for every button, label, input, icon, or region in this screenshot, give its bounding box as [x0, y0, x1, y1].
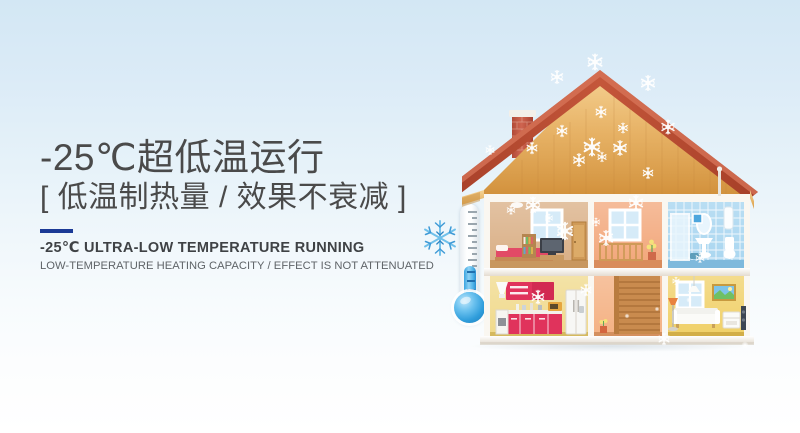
headline-chinese: -25℃超低温运行 [40, 138, 440, 178]
room-living-room [668, 276, 746, 338]
subheadline-chinese: [ 低温制热量 / 效果不衰减 ] [40, 180, 440, 215]
staircase [614, 276, 660, 334]
room-kitchen [490, 276, 588, 338]
room-bedroom [490, 202, 588, 268]
headline-english: -25℃ ULTRA-LOW TEMPERATURE RUNNING [40, 239, 440, 257]
subheadline-english: LOW-TEMPERATURE HEATING CAPACITY / EFFEC… [40, 259, 440, 274]
vent-pipe [718, 170, 721, 196]
headline-text-block: -25℃超低温运行 [ 低温制热量 / 效果不衰减 ] -25℃ ULTRA-L… [40, 138, 440, 274]
room-nursery [594, 202, 662, 268]
cutaway-house [462, 62, 762, 350]
room-bathroom [668, 202, 744, 268]
accent-rule [40, 229, 73, 233]
mid-floor-slab [484, 268, 750, 276]
room-hallway-stairs [594, 276, 662, 338]
banner-stage: -25℃超低温运行 [ 低温制热量 / 效果不衰减 ] -25℃ ULTRA-L… [0, 0, 800, 433]
